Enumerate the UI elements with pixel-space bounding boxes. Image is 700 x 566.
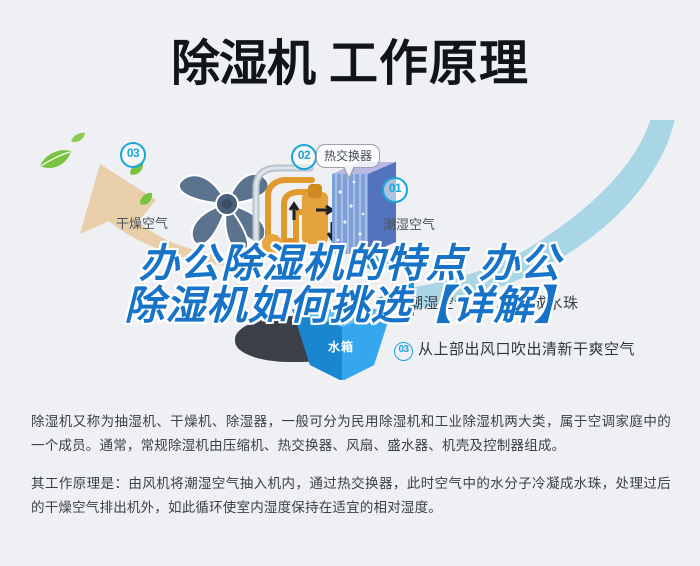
leaf-icon — [70, 132, 86, 145]
step-03-text: 从上部出风口吹出清新干爽空气 — [418, 341, 635, 358]
paragraph-definition: 除湿机又称为抽湿机、干燥机、除湿器，一般可分为民用除湿机和工业除湿机两大类，属于… — [31, 410, 671, 458]
paragraph-principle: 其工作原理是：由风机将潮湿空气抽入机内，通过热交换器，此时空气中的水分子冷凝成水… — [31, 472, 671, 520]
article-page: 除湿机工作原理 — [0, 0, 700, 566]
page-title-part1: 除湿机 — [171, 37, 315, 91]
badge-step-01: 01 — [382, 177, 408, 203]
badge-step-03: 03 — [120, 142, 146, 168]
working-principle-diagram: 水箱 03 干燥空气 02 热交换器 01 潮湿空气 潮湿空气……冷凝成水珠 0… — [0, 120, 700, 380]
badge-step-02: 02 — [291, 144, 317, 170]
badge-step-03-inline: 03 — [394, 342, 413, 361]
label-humid-air: 潮湿空气 — [383, 214, 435, 233]
page-title-text: 除湿机工作原理 — [0, 26, 700, 102]
leaf-icon — [138, 192, 154, 207]
page-title: 除湿机工作原理 — [0, 26, 700, 106]
label-heat-exchanger: 热交换器 — [316, 144, 380, 168]
page-title-part2: 工作原理 — [329, 37, 529, 91]
note-condensation: 潮湿空气……冷凝成水珠 — [408, 292, 579, 313]
leaf-icon — [38, 148, 72, 172]
water-tank-label: 水箱 — [328, 338, 354, 355]
step-03-description: 03从上部出风口吹出清新干爽空气 — [394, 338, 635, 361]
article-body: 除湿机又称为抽湿机、干燥机、除湿器，一般可分为民用除湿机和工业除湿机两大类，属于… — [31, 410, 671, 534]
label-dry-air: 干燥空气 — [116, 213, 168, 232]
